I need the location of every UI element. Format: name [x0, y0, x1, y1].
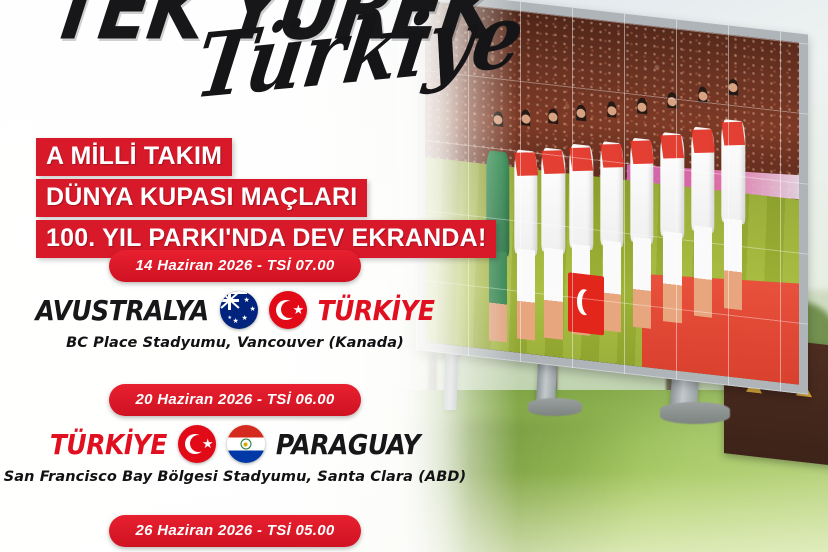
- match-date-badge: 26 Haziran 2026 - TSİ 05.00: [109, 515, 360, 547]
- turkish-flag-on-screen: [568, 272, 604, 335]
- match-date-badge: 20 Haziran 2026 - TSİ 06.00: [109, 384, 360, 416]
- match-block-3: 26 Haziran 2026 - TSİ 05.00: [0, 515, 470, 547]
- turkey-flag-icon: ★: [178, 425, 216, 463]
- turkey-flag-icon: ★: [269, 291, 307, 329]
- home-team-name: TÜRKİYE: [50, 428, 167, 460]
- match-venue: BC Place Stadyumu, Vancouver (Kanada): [0, 335, 470, 351]
- team-lineup: [485, 109, 762, 366]
- red-banner: A MİLLİ TAKIM DÜNYA KUPASI MAÇLARI 100. …: [36, 138, 496, 261]
- banner-line-2: DÜNYA KUPASI MAÇLARI: [36, 179, 367, 217]
- away-team-name: PARAGUAY: [276, 428, 420, 460]
- match-date-badge: 14 Haziran 2026 - TSİ 07.00: [109, 250, 360, 282]
- australia-flag-icon: ★ ★ ★ ★ ★: [220, 291, 258, 329]
- match-venue: San Francisco Bay Bölgesi Stadyumu, Sant…: [0, 469, 470, 485]
- away-team-name: TÜRKİYE: [318, 294, 435, 326]
- match-teams: AVUSTRALYA ★ ★ ★ ★ ★ ★ TÜRKİYE: [0, 291, 470, 329]
- banner-line-1: A MİLLİ TAKIM: [36, 138, 232, 176]
- match-block-1: 14 Haziran 2026 - TSİ 07.00 AVUSTRALYA ★…: [0, 250, 470, 351]
- poster-root: TEK YÜREK Türkiye A MİLLİ TAKIM DÜNYA KU…: [0, 0, 828, 552]
- match-block-2: 20 Haziran 2026 - TSİ 06.00 TÜRKİYE ★ PA…: [0, 384, 470, 485]
- home-team-name: AVUSTRALYA: [35, 294, 208, 326]
- paraguay-flag-icon: [227, 425, 265, 463]
- match-teams: TÜRKİYE ★ PARAGUAY: [0, 425, 470, 463]
